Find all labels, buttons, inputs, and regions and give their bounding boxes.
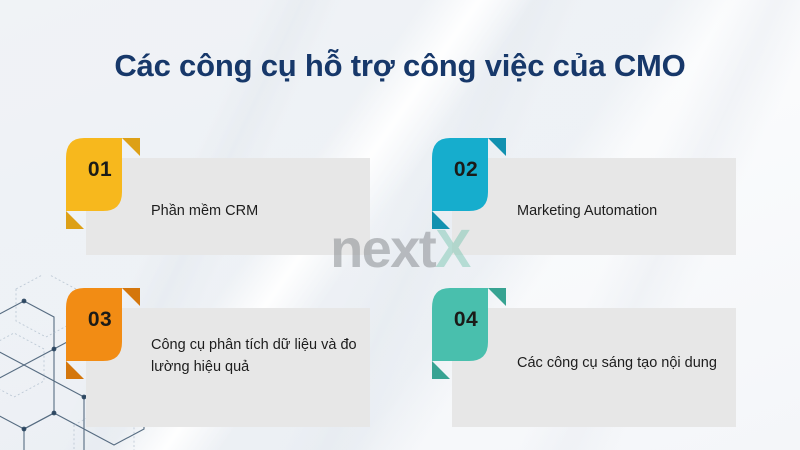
infographic-slide: Các công cụ hỗ trợ công việc của CMO nex… (0, 0, 800, 450)
card-number-badge: 01 (62, 136, 144, 231)
card-label: Các công cụ sáng tạo nội dung (517, 352, 724, 374)
card-number-badge: 04 (428, 286, 510, 381)
card-label: Công cụ phân tích dữ liệu và đo lường hi… (151, 334, 358, 379)
card-grid: Phần mềm CRM 01 Marketing Automation (0, 0, 800, 450)
card-label: Marketing Automation (517, 200, 724, 222)
card-number-badge: 02 (428, 136, 510, 231)
card-label: Phần mềm CRM (151, 200, 358, 222)
card-number-badge: 03 (62, 286, 144, 381)
